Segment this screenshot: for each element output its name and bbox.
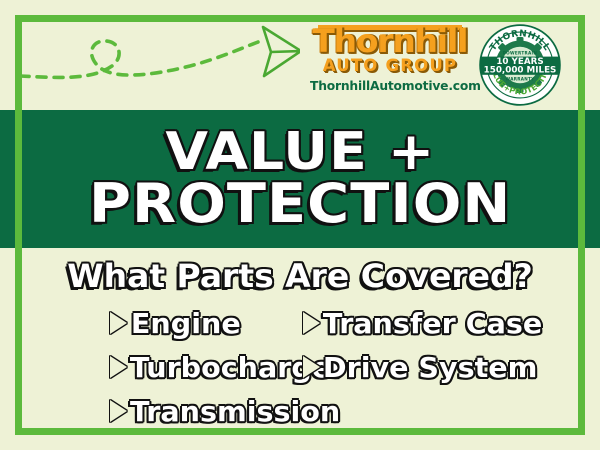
list-item: Engine [110,304,285,342]
headline-line-2: PROTECTION [89,180,511,229]
list-item: Turbocharger [110,348,285,386]
badge-miles-text: 150,000 MILES [484,66,557,76]
subheading-text: What Parts Are Covered? [0,257,600,295]
part-label: Engine [131,307,241,340]
part-label: Transfer Case [323,307,542,340]
triangle-right-icon [303,356,320,378]
badge-warranty-text: WARRANTY [506,76,536,81]
triangle-right-icon [110,312,127,334]
list-item: Transmission [110,392,285,430]
part-label: Drive System [323,351,537,384]
header-section: Thornhill AUTO GROUP ThornhillAutomotive… [0,0,600,110]
covered-parts-section: What Parts Are Covered? Engine Turbochar… [0,248,600,450]
triangle-right-icon [110,356,127,378]
headline-line-1: VALUE + [165,129,435,176]
triangle-right-icon [303,312,320,334]
flight-path-icon [20,14,300,94]
advertisement-banner: Thornhill AUTO GROUP ThornhillAutomotive… [0,0,600,450]
warranty-seal-badge: THORNHILL VALUE+PROTECTION POWERTRAIN WA… [478,23,562,107]
parts-column-left: Engine Turbocharger Transmission [55,304,285,430]
logo-brand-text: Thornhill [308,26,471,56]
part-label: Transmission [130,395,340,428]
logo-website-url: ThornhillAutomotive.com [310,79,470,93]
badge-powertrain-text: POWERTRAIN [503,51,538,56]
parts-columns: Engine Turbocharger Transmission Transfe… [0,304,600,430]
headline-group: VALUE + PROTECTION [0,110,600,248]
list-item: Transfer Case [303,304,545,342]
triangle-right-icon [110,400,127,422]
thornhill-logo: Thornhill AUTO GROUP ThornhillAutomotive… [310,26,470,93]
list-item: Drive System [303,348,545,386]
